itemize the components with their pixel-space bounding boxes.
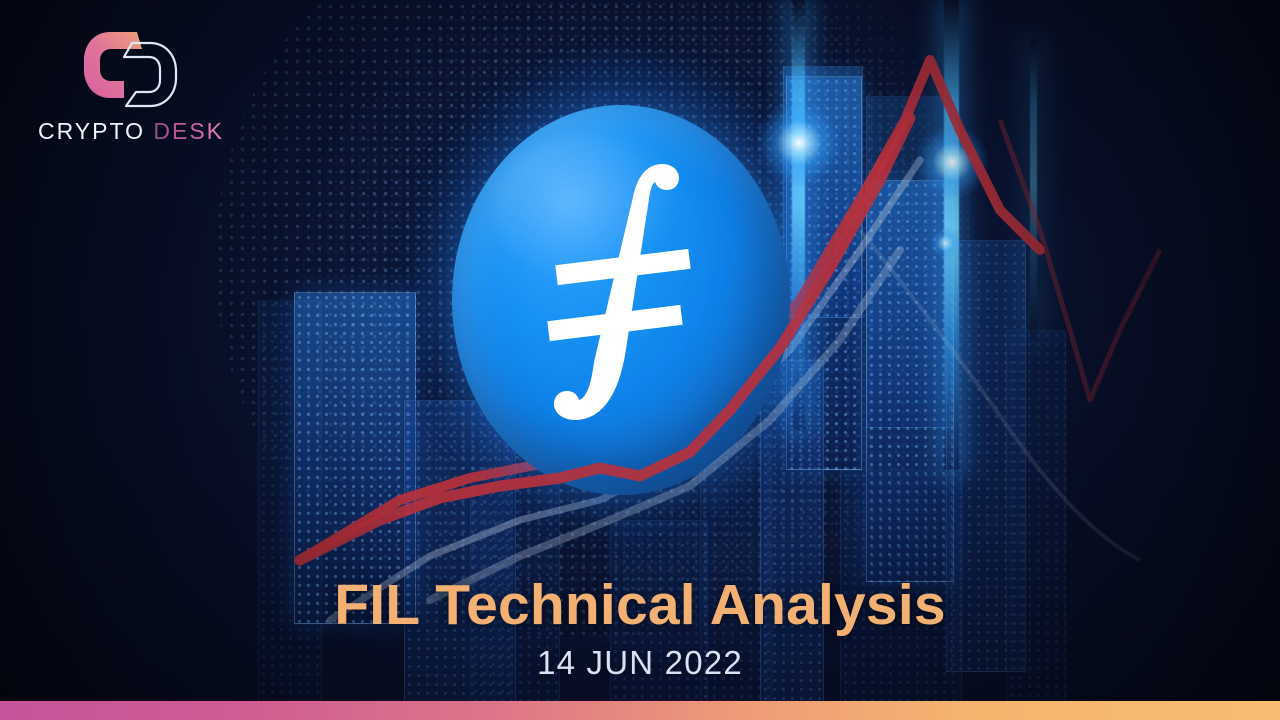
brand-logo-text: CRYPTO DESK	[26, 118, 236, 145]
brand-word-primary: CRYPTO	[38, 118, 145, 144]
page-title: FIL Technical Analysis	[0, 572, 1280, 638]
page-date: 14 JUN 2022	[0, 644, 1280, 682]
brand-logo[interactable]: CRYPTO DESK	[26, 26, 236, 151]
brand-word-secondary: DESK	[153, 118, 224, 144]
crypto-desk-mark-icon	[80, 26, 184, 112]
banner-image: CRYPTO DESK FIL Technical Analysis 14 JU…	[0, 0, 1280, 720]
bottom-accent-bar	[0, 701, 1280, 720]
